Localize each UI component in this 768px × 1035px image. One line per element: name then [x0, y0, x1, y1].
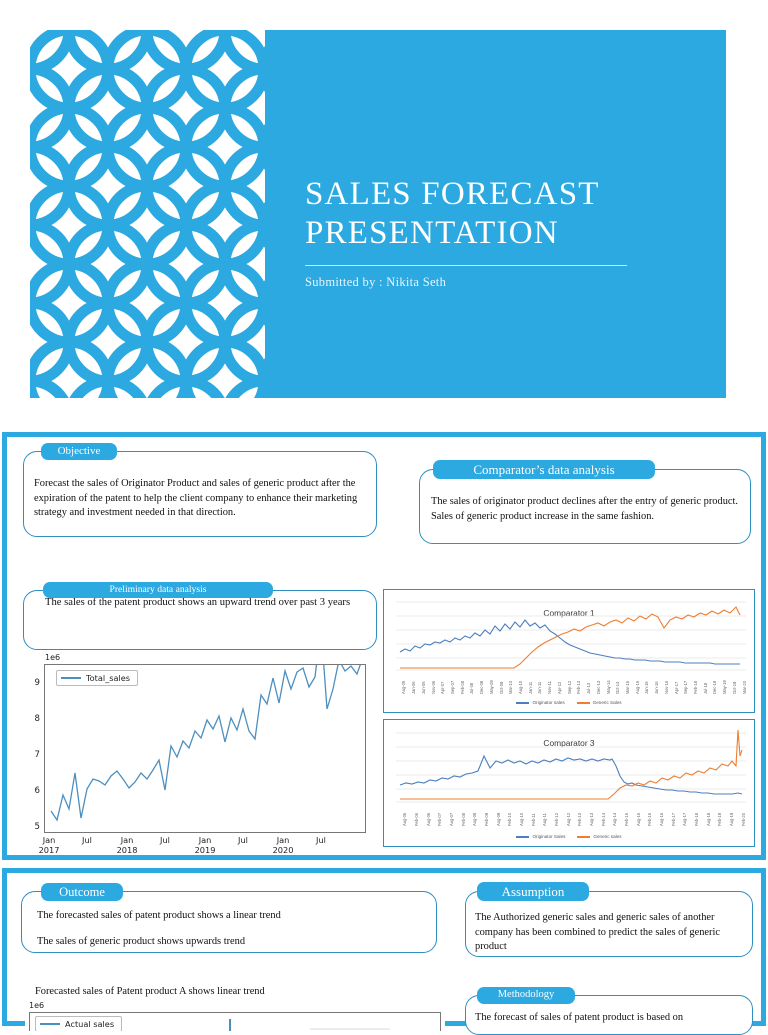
- xtick: Feb-07: [437, 813, 442, 826]
- legend-label: Actual sales: [65, 1019, 114, 1029]
- xtick: Apr-17: [674, 682, 679, 694]
- total-sales-exponent: 1e6: [45, 653, 60, 662]
- xtick: Jun-16: [654, 681, 659, 694]
- legend-label: Total_sales: [86, 673, 130, 683]
- comparator-1-plot-area: [396, 598, 746, 672]
- objective-tab: Objective: [41, 443, 117, 460]
- comparator-3-legend: Originator Sales Generic sales: [384, 834, 754, 839]
- xtick: Feb-08: [460, 681, 465, 694]
- xtick: Apr-07: [440, 682, 445, 694]
- xtick: Feb-14: [601, 813, 606, 826]
- xtick: Feb-12: [554, 813, 559, 826]
- comparator-3-chart: Comparator 3 Aug-05Feb-06Aug-06Feb-07Aug…: [383, 719, 755, 847]
- ytick: 6: [25, 786, 40, 796]
- outcome-tab: Outcome: [41, 883, 123, 901]
- xtick: Feb-18: [693, 681, 698, 694]
- xtick: May-19: [722, 680, 727, 694]
- xtick: Aug-06: [426, 813, 431, 826]
- xtick: Jul-13: [586, 683, 591, 694]
- outcome-text: The forecasted sales of patent product s…: [37, 909, 427, 949]
- ytick: 7: [25, 750, 40, 760]
- xtick: Aug-15: [636, 813, 641, 826]
- xtick: Jul-08: [469, 683, 474, 694]
- xtick: Aug-13: [589, 813, 594, 826]
- xtick: Feb-10: [507, 813, 512, 826]
- xtick: Apr-12: [557, 682, 562, 694]
- xtick: Dec-18: [712, 681, 717, 694]
- xtick: Jan2018: [111, 836, 143, 855]
- xtick: Feb-11: [531, 813, 536, 826]
- comparator-3-xaxis: Aug-05Feb-06Aug-06Feb-07Aug-07Feb-08Aug-…: [396, 806, 746, 828]
- xtick: Feb-13: [577, 813, 582, 826]
- overlapping-circles-pattern: [30, 30, 265, 398]
- legend-swatch: [61, 677, 81, 679]
- ytick: 5: [25, 822, 40, 832]
- xtick: Jul: [152, 836, 178, 846]
- xtick: Feb-17: [671, 813, 676, 826]
- xtick: Feb-19: [717, 813, 722, 826]
- xtick: Jul: [74, 836, 100, 846]
- methodology-tab: Methodology: [477, 987, 575, 1004]
- xtick: Mar-15: [625, 681, 630, 694]
- xtick: Aug-11: [542, 813, 547, 826]
- outcome-line: The forecasted sales of patent product s…: [37, 909, 427, 924]
- xtick: Aug-09: [496, 813, 501, 826]
- comparator-analysis-text: The sales of originator product declines…: [431, 495, 739, 524]
- title-slide: SALES FORECAST PRESENTATION Submitted by…: [30, 30, 726, 398]
- total-sales-legend: Total_sales: [56, 670, 138, 686]
- legend-entry-generic: Generic sales: [577, 834, 621, 839]
- assumption-tab: Assumption: [477, 882, 589, 901]
- xtick: Oct-19: [732, 682, 737, 694]
- xtick: Oct-09: [499, 682, 504, 694]
- xtick: Aug-05: [401, 681, 406, 694]
- xtick: Jun-11: [537, 682, 542, 694]
- total-sales-plot-area: [44, 664, 366, 833]
- page-title: SALES FORECAST PRESENTATION: [305, 175, 705, 253]
- xtick: Aug-17: [682, 813, 687, 826]
- forecast-exponent: 1e6: [29, 1001, 44, 1010]
- legend-entry-generic: Generic Sales: [577, 700, 622, 705]
- xtick: Jul: [230, 836, 256, 846]
- xtick: Feb-13: [576, 681, 581, 694]
- xtick: Feb-18: [694, 813, 699, 826]
- xtick: Jan-06: [411, 681, 416, 694]
- outcome-slide: Outcome The forecasted sales of patent p…: [2, 868, 766, 1026]
- xtick: Nov-06: [431, 681, 436, 694]
- xtick: Aug-12: [566, 813, 571, 826]
- ytick: 9: [25, 678, 40, 688]
- legend-entry-originator: Originator sales: [516, 700, 564, 705]
- xtick: Mar-10: [508, 681, 513, 694]
- xtick: Jul: [308, 836, 334, 846]
- xtick: Feb-20: [741, 813, 746, 826]
- xtick: Aug-07: [449, 813, 454, 826]
- subtitle: Submitted by : Nikita Seth: [305, 275, 446, 290]
- xtick: Aug-10: [518, 681, 523, 694]
- xtick: Dec-08: [479, 681, 484, 694]
- xtick: Feb-15: [624, 813, 629, 826]
- legend-swatch: [40, 1023, 60, 1025]
- xtick: Sep-07: [450, 681, 455, 694]
- outcome-line: The sales of generic product shows upwar…: [37, 935, 427, 950]
- title-divider: [305, 265, 627, 266]
- xtick: Jun-06: [421, 681, 426, 694]
- ytick: 8: [25, 714, 40, 724]
- comparator-1-xaxis: Aug-05Jan-06Jun-06Nov-06Apr-07Sep-07Feb-…: [396, 674, 746, 696]
- xtick: May-09: [489, 680, 494, 694]
- xtick: Feb-09: [484, 813, 489, 826]
- title-panel: SALES FORECAST PRESENTATION Submitted by…: [265, 30, 726, 398]
- xtick: Nov-11: [547, 681, 552, 694]
- xtick: Sep-17: [683, 681, 688, 694]
- xtick: Jan-11: [528, 682, 533, 694]
- comparator-3-plot-area: [396, 728, 746, 804]
- xtick: Aug-08: [472, 813, 477, 826]
- xtick: Aug-19: [729, 813, 734, 826]
- xtick: Aug-18: [706, 813, 711, 826]
- xtick: May-14: [606, 680, 611, 694]
- xtick: Nov-16: [664, 681, 669, 694]
- comparator-1-chart: Comparator 1 Aug-05Jan-06Jun-06Nov-06Apr…: [383, 589, 755, 713]
- objective-text: Forecast the sales of Originator Product…: [34, 477, 364, 521]
- preliminary-tab: Preliminary data analysis: [43, 582, 273, 598]
- xtick: Jan2020: [267, 836, 299, 855]
- assumption-text: The Authorized generic sales and generic…: [475, 911, 743, 955]
- xtick: Feb-16: [647, 813, 652, 826]
- legend-entry-originator: Originator Sales: [516, 834, 565, 839]
- xtick: Aug-16: [659, 813, 664, 826]
- xtick: Aug-14: [612, 813, 617, 826]
- xtick: Aug-05: [402, 813, 407, 826]
- xtick: Sep-12: [567, 681, 572, 694]
- comparator-1-legend: Originator sales Generic Sales: [384, 700, 754, 705]
- total-sales-chart: 1e6 9 8 7 6 5 Total_sales Jan2017 Jul Ja…: [23, 651, 371, 855]
- xtick: Aug-15: [635, 681, 640, 694]
- methodology-text: The forecast of sales of patent product …: [475, 1011, 743, 1026]
- xtick: Jan-16: [644, 681, 649, 694]
- xtick: Jan2017: [33, 836, 65, 855]
- comparator-analysis-tab: Comparator’s data analysis: [433, 460, 655, 479]
- xtick: Aug-10: [519, 813, 524, 826]
- xtick: Jan2019: [189, 836, 221, 855]
- presentation-page: SALES FORECAST PRESENTATION Submitted by…: [0, 0, 768, 1024]
- xtick: Mar-20: [742, 681, 746, 694]
- xtick: Feb-08: [461, 813, 466, 826]
- forecast-heading: Forecasted sales of Patent product A sho…: [35, 985, 435, 999]
- xtick: Dec-13: [596, 681, 601, 694]
- analysis-slide: Objective Forecast the sales of Originat…: [2, 432, 766, 860]
- xtick: Feb-06: [414, 813, 419, 826]
- xtick: Oct-14: [615, 682, 620, 694]
- xtick: Jul-18: [703, 683, 708, 694]
- forecast-chart: 1e6 Actual sales: [25, 1001, 445, 1031]
